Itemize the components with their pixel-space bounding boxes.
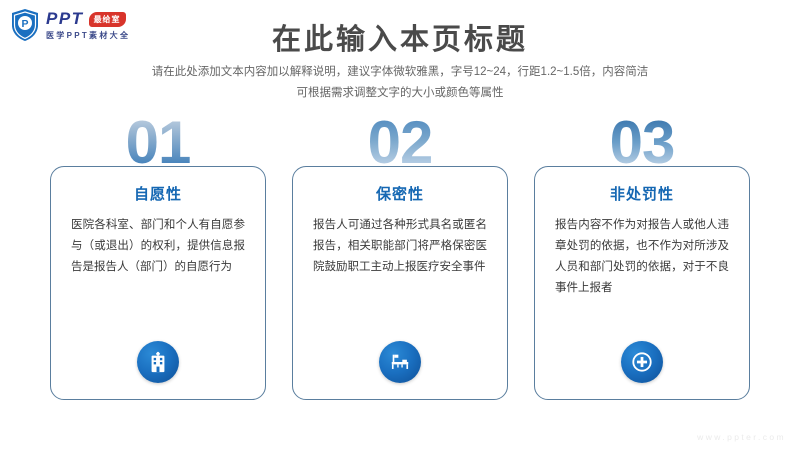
card-title-02: 保密性 [307,183,493,204]
card-body-03: 报告内容不作为对报告人或他人违章处罚的依据，也不作为对所涉及人员和部门处罚的依据… [549,215,735,299]
content-columns: 01 自愿性 医院各科室、部门和个人有自愿参与（或退出）的权利，提供信息报告是报… [50,112,750,400]
subtitle-line-2: 可根据需求调整文字的大小或颜色等属性 [90,83,710,104]
hospital-building-glyph [147,351,169,373]
card-icon-wrap-02 [293,341,507,383]
column-01: 01 自愿性 医院各科室、部门和个人有自愿参与（或退出）的权利，提供信息报告是报… [50,112,266,400]
subtitle-line-1: 请在此处添加文本内容加以解释说明，建议字体微软雅黑，字号12~24，行距1.2~… [90,62,710,83]
page-subtitle: 请在此处添加文本内容加以解释说明，建议字体微软雅黑，字号12~24，行距1.2~… [90,62,710,105]
medical-cross-circle-glyph [631,351,653,373]
column-number-03: 03 [534,112,750,174]
column-number-01: 01 [50,112,266,174]
card-icon-wrap-01 [51,341,265,383]
medical-cross-circle-icon[interactable] [621,341,663,383]
column-02: 02 保密性 报告人可通过各种形式具名或匿名报告，相关职能部门将严格保密医院鼓励… [292,112,508,400]
hospital-building-icon[interactable] [137,341,179,383]
card-body-01: 医院各科室、部门和个人有自愿参与（或退出）的权利，提供信息报告是报告人（部门）的… [65,215,251,278]
footer-watermark: www.ppter.com [697,432,786,442]
hospital-bed-icon[interactable] [379,341,421,383]
card-03[interactable]: 非处罚性 报告内容不作为对报告人或他人违章处罚的依据，也不作为对所涉及人员和部门… [534,166,750,400]
card-title-03: 非处罚性 [549,183,735,204]
column-03: 03 非处罚性 报告内容不作为对报告人或他人违章处罚的依据，也不作为对所涉及人员… [534,112,750,400]
column-number-02: 02 [292,112,508,174]
card-01[interactable]: 自愿性 医院各科室、部门和个人有自愿参与（或退出）的权利，提供信息报告是报告人（… [50,166,266,400]
page-title: 在此输入本页标题 [0,16,800,58]
hospital-bed-glyph [389,351,411,373]
card-02[interactable]: 保密性 报告人可通过各种形式具名或匿名报告，相关职能部门将严格保密医院鼓励职工主… [292,166,508,400]
slide-canvas: P PPT 最给室 医学PPT素材大全 在此输入本页标题 请在此处添加文本内容加… [0,0,800,450]
card-body-02: 报告人可通过各种形式具名或匿名报告，相关职能部门将严格保密医院鼓励职工主动上报医… [307,215,493,278]
card-title-01: 自愿性 [65,183,251,204]
card-icon-wrap-03 [535,341,749,383]
